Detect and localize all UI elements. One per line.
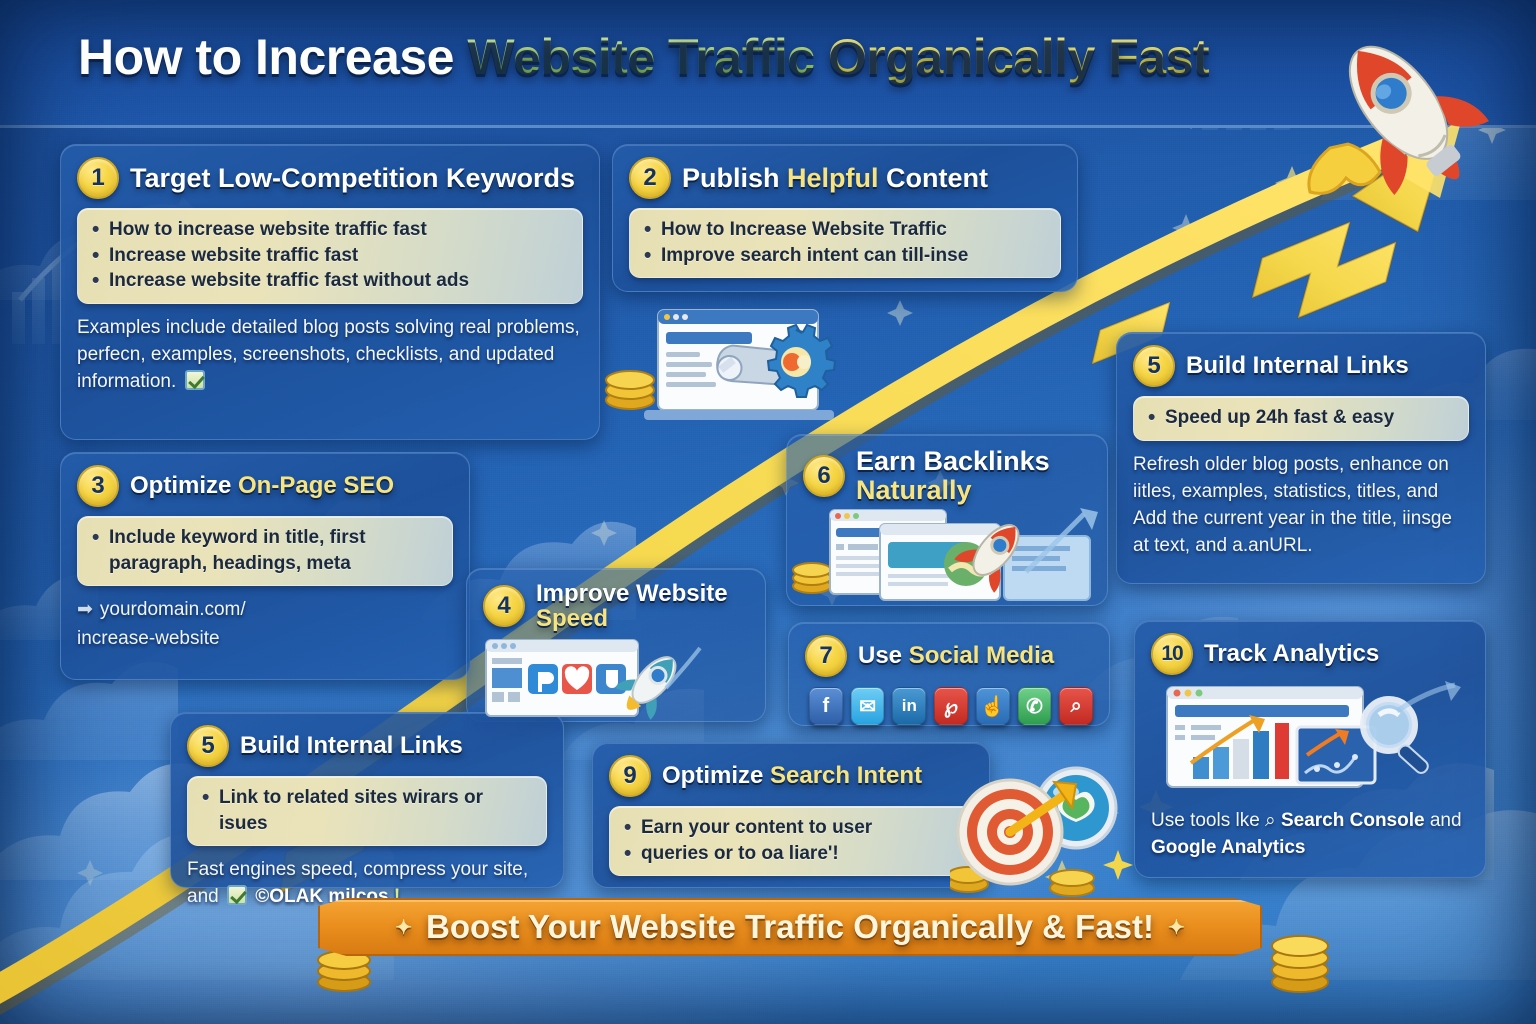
linkedin-icon[interactable]: in [892,687,926,725]
card-1-body-text: Examples include detailed blog posts sol… [77,317,580,392]
arrow-in-target-icon [1010,782,1076,832]
card-4-number-badge: 4 [483,585,525,627]
card-1-body: Examples include detailed blog posts sol… [77,315,583,396]
analytics-dashboard-illustration [1151,681,1467,797]
card-10-search-glyph: ⌕ [1265,810,1281,831]
card-5-bottom-bullet-panel: Link to related sites wirars or isues [187,776,547,846]
card-9-header: 9 Optimize Search Intent [609,755,973,797]
card-3-number-badge: 3 [77,465,119,507]
sparkle-left-icon: ✦ [395,915,412,940]
card-1-bullet-3: Increase website traffic fast without ad… [92,268,568,294]
twitter-icon[interactable]: ✉ [851,687,885,725]
card-10-track-analytics[interactable]: 10 Track Analytics [1134,620,1486,878]
card-2-heading-highlight: Helpful [787,163,879,193]
card-9-heading-plain: Optimize [662,762,770,789]
title-part-green: Website Traffic [467,29,828,85]
card-9-heading: Optimize Search Intent [662,763,922,788]
card-2-heading: Publish Helpful Content [682,164,988,193]
card-3-heading-highlight: On-Page SEO [238,472,394,499]
title-part-white: How to Increase [78,29,467,85]
card-5-build-internal-links-top[interactable]: 5 Build Internal Links Speed up 24h fast… [1116,332,1486,584]
card-1-bullet-1: How to increase website traffic fast [92,217,568,243]
card-6-heading-highlight: Naturally [856,476,1050,505]
card-3-bullet-1: Include keyword in title, first paragrap… [92,525,438,576]
card-5-bottom-header: 5 Build Internal Links [187,725,547,767]
card-1-bullet-panel: How to increase website traffic fast Inc… [77,208,583,304]
globe-icon [1036,768,1116,848]
card-10-body-c: and [1425,810,1462,831]
coins-icon [606,371,654,409]
gear-icon [768,325,835,397]
card-6-earn-backlinks-naturally[interactable]: 6 Earn Backlinks Naturally [786,434,1108,606]
whatsapp-icon[interactable]: ✆ [1018,687,1052,725]
card-4-header: 4 Improve Website Speed [483,581,749,632]
card-6-number-badge: 6 [803,455,845,497]
card-5-top-heading: Build Internal Links [1186,353,1409,378]
social-icon-row: f ✉ in ℘ ☝ ✆ ⌕ [805,687,1093,725]
card-6-heading-plain: Earn Backlinks [856,447,1050,476]
page-title: How to Increase Website Traffic Organica… [78,28,1209,86]
card-5-top-bullet-1: Speed up 24h fast & easy [1148,405,1454,431]
thumbs-up-icon[interactable]: ☝ [976,687,1010,725]
ribbon-text: Boost Your Website Traffic Organically &… [426,908,1154,946]
card-10-number-badge: 10 [1151,633,1193,675]
card-2-bullet-1: How to Increase Website Traffic [644,217,1046,243]
card-1-heading-plain: Target [130,163,218,193]
card-3-bullet-panel: Include keyword in title, first paragrap… [77,516,453,586]
card-5-top-header: 5 Build Internal Links [1133,345,1469,387]
checkmark-icon [227,885,247,905]
card-10-body-b: Search Console [1281,810,1425,831]
card-2-heading-tail: Content [879,163,988,193]
pinterest-icon[interactable]: ℘ [934,687,968,725]
card-9-bullet-1: Earn your content to user [624,815,958,841]
card-9-heading-highlight: Search Intent [770,762,922,789]
bottom-cta-ribbon[interactable]: ✦ Boost Your Website Traffic Organically… [318,898,1262,956]
card-7-header: 7 Use Social Media [805,635,1093,677]
card-3-heading: Optimize On-Page SEO [130,473,394,498]
card-7-heading: Use Social Media [858,643,1054,668]
card-6-heading: Earn Backlinks Naturally [856,447,1050,504]
card-6-header: 6 Earn Backlinks Naturally [803,447,1091,504]
infographic-poster: How to Increase Website Traffic Organica… [0,0,1536,1024]
checkmark-icon [185,370,205,390]
card-7-use-social-media[interactable]: 7 Use Social Media f ✉ in ℘ ☝ ✆ ⌕ [788,622,1110,726]
card-7-number-badge: 7 [805,635,847,677]
card-1-heading: Target Low-Competition Keywords [130,164,575,193]
card-3-url-block: ➡yourdomain.com/ increase-website [77,596,453,653]
card-2-number-badge: 2 [629,157,671,199]
card-3-url-line-1: yourdomain.com/ [100,599,246,620]
card-5-top-body: Refresh older blog posts, enhance on iit… [1133,452,1469,560]
wrench-icon [709,314,814,418]
card-1-header: 1 Target Low-Competition Keywords [77,157,583,199]
card-5-top-bullet-panel: Speed up 24h fast & easy [1133,396,1469,441]
card-5-top-number-badge: 5 [1133,345,1175,387]
card-7-heading-plain: Use [858,642,909,669]
card-10-heading: Track Analytics [1204,641,1379,666]
card-7-heading-highlight: Social Media [909,642,1054,669]
card-3-heading-plain: Optimize [130,472,238,499]
card-2-bullet-panel: How to Increase Website Traffic Improve … [629,208,1061,278]
card-1-heading-highlight: Low-Competition Keywords [218,163,575,193]
card-10-body-d: Google Analytics [1151,837,1306,858]
card-1-bullet-2: Increase website traffic fast [92,243,568,269]
card-5-bottom-number-badge: 5 [187,725,229,767]
card-2-bullet-2: Improve search intent can till-inse [644,243,1046,269]
card-9-optimize-search-intent[interactable]: 9 Optimize Search Intent Earn your conte… [592,742,990,888]
sparkle-right-icon: ✦ [1168,915,1185,940]
card-9-bullet-panel: Earn your content to user queries or to … [609,806,973,876]
card-10-header: 10 Track Analytics [1151,633,1469,675]
facebook-icon[interactable]: f [809,687,843,725]
card-5-bottom-heading: Build Internal Links [240,733,463,758]
card-4-heading-plain: Improve Website [536,581,728,606]
card-1-number-badge: 1 [77,157,119,199]
pointer-icon: ➡ [77,596,93,625]
ribbon-text-row: ✦ Boost Your Website Traffic Organically… [318,898,1262,956]
card-2-header: 2 Publish Helpful Content [629,157,1061,199]
card-10-body-a: Use tools lke [1151,810,1265,831]
card-5-bottom-bullet-1: Link to related sites wirars or isues [202,785,532,836]
card-1-target-low-competition-keywords[interactable]: 1 Target Low-Competition Keywords How to… [60,144,600,440]
card-4-improve-website-speed[interactable]: 4 Improve Website Speed [466,568,766,722]
card-10-body: Use tools lke ⌕ Search Console and Googl… [1151,808,1469,862]
card-2-publish-helpful-content[interactable]: 2 Publish Helpful Content How to Increas… [612,144,1078,292]
card-3-header: 3 Optimize On-Page SEO [77,465,453,507]
card-3-optimize-on-page-seo[interactable]: 3 Optimize On-Page SEO Include keyword i… [60,452,470,680]
card-9-bullet-2: queries or to oa liare'! [624,841,958,867]
card-9-number-badge: 9 [609,755,651,797]
search-icon[interactable]: ⌕ [1059,687,1093,725]
laptop-wrench-gear-illustration [600,282,880,447]
card-5-build-internal-links-bottom[interactable]: 5 Build Internal Links Link to related s… [170,712,564,888]
card-2-heading-plain: Publish [682,163,787,193]
bottom-right-coins-illustration [1244,900,1364,1010]
card-4-heading-highlight: Speed [536,606,728,631]
card-3-url-line-2: increase-website [77,628,220,649]
title-part-yellow: Organically Fast [828,29,1209,85]
card-4-heading: Improve Website Speed [536,581,728,632]
